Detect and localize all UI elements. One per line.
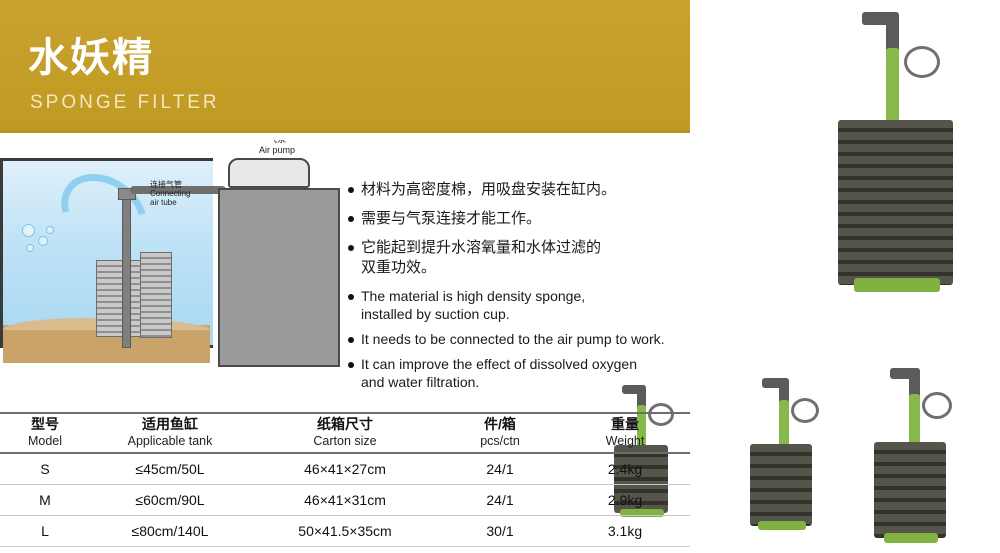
list-item: It needs to be connected to the air pump… (348, 330, 688, 348)
col-header-pcs-cn: 件/箱 (484, 416, 516, 432)
list-item: 需要与气泵连接才能工作。 (348, 209, 688, 229)
elbow-down-icon (886, 12, 899, 52)
bubble-icon (38, 236, 48, 246)
riser-tube (122, 196, 131, 348)
bullet-dot-icon (348, 216, 354, 222)
cell-tank: ≤80cm/140L (90, 516, 250, 547)
cell-carton: 46×41×27cm (250, 453, 440, 485)
col-header-model-en: Model (0, 433, 90, 450)
cell-tank: ≤45cm/50L (90, 453, 250, 485)
riser-stem (779, 400, 789, 450)
product-base (884, 533, 938, 543)
spec-table: 型号 Model 适用鱼缸 Applicable tank 纸箱尺寸 Carto… (0, 412, 690, 547)
sponge-body (874, 442, 946, 538)
sponge-cross-section-2 (140, 252, 172, 338)
table-top-rule (0, 412, 690, 414)
suction-cup-icon (791, 398, 819, 423)
bullet-dot-icon (348, 245, 354, 251)
feature-text: The material is high density sponge, ins… (361, 287, 585, 323)
cell-pcs: 24/1 (440, 485, 560, 516)
col-header-weight: 重量 Weight (560, 412, 690, 453)
table-row: L ≤80cm/140L 50×41.5×35cm 30/1 3.1kg (0, 516, 690, 547)
cell-pcs: 30/1 (440, 516, 560, 547)
bubble-icon (26, 244, 34, 252)
product-base (758, 521, 806, 530)
product-unit-l (868, 368, 968, 533)
riser-stem (909, 394, 920, 449)
cell-model: S (0, 453, 90, 485)
table-row: S ≤45cm/50L 46×41×27cm 24/1 2.4kg (0, 453, 690, 485)
col-header-carton-en: Carton size (250, 433, 440, 450)
air-pump-label-en: Air pump (259, 145, 295, 155)
table-row: M ≤60cm/90L 46×41×31cm 24/1 2.9kg (0, 485, 690, 516)
header-divider (0, 130, 690, 133)
cell-weight: 3.1kg (560, 516, 690, 547)
feature-text: It needs to be connected to the air pump… (361, 330, 665, 348)
col-header-pcs-en: pcs/ctn (440, 433, 560, 450)
cell-tank: ≤60cm/90L (90, 485, 250, 516)
riser-stem (886, 48, 899, 128)
cell-carton: 46×41×31cm (250, 485, 440, 516)
sponge-body (750, 444, 812, 526)
col-header-weight-cn: 重量 (611, 416, 639, 432)
bullet-dot-icon (348, 294, 354, 300)
feature-text: 需要与气泵连接才能工作。 (361, 209, 541, 229)
sponge-body (838, 120, 953, 285)
cell-weight: 2.9kg (560, 485, 690, 516)
page-title: 水妖精 (28, 36, 154, 80)
cell-weight: 2.4kg (560, 453, 690, 485)
list-item: 材料为高密度棉，用吸盘安装在缸内。 (348, 180, 688, 200)
product-base (854, 278, 940, 292)
col-header-tank: 适用鱼缸 Applicable tank (90, 412, 250, 453)
air-pump-body (218, 188, 340, 367)
air-tube-label-en2: air tube (150, 198, 177, 207)
col-header-model: 型号 Model (0, 412, 90, 453)
bullet-dot-icon (348, 187, 354, 193)
product-unit-m (742, 378, 832, 533)
air-pump-label-cn: 气泵 (268, 140, 286, 144)
col-header-weight-en: Weight (560, 433, 690, 450)
cell-carton: 50×41.5×35cm (250, 516, 440, 547)
feature-text: 材料为高密度棉，用吸盘安装在缸内。 (361, 180, 616, 200)
col-header-tank-cn: 适用鱼缸 (142, 416, 198, 432)
suction-cup-icon (922, 392, 952, 419)
col-header-pcs: 件/箱 pcs/ctn (440, 412, 560, 453)
bubble-icon (22, 224, 35, 237)
cell-model: M (0, 485, 90, 516)
col-header-model-cn: 型号 (31, 416, 59, 432)
bullet-dot-icon (348, 337, 354, 343)
aquarium-illustration: 气泵 Air pump 连接气管 Connecting air tube (0, 140, 340, 383)
page-subtitle: SPONGE FILTER (30, 92, 220, 114)
hero-product (820, 10, 990, 300)
tank-rim (0, 158, 213, 161)
list-item: 它能起到提升水溶氧量和水体过滤的 双重功效。 (348, 238, 688, 278)
spec-table-wrapper: 型号 Model 适用鱼缸 Applicable tank 纸箱尺寸 Carto… (0, 412, 690, 547)
suction-cup-icon (904, 46, 940, 78)
air-pump-top (228, 158, 310, 188)
cell-pcs: 24/1 (440, 453, 560, 485)
feature-text: 它能起到提升水溶氧量和水体过滤的 双重功效。 (361, 238, 601, 278)
feature-list: 材料为高密度棉，用吸盘安装在缸内。 需要与气泵连接才能工作。 它能起到提升水溶氧… (348, 180, 688, 398)
feature-text: It can improve the effect of dissolved o… (361, 355, 637, 391)
bullet-dot-icon (348, 362, 354, 368)
air-pump-label: 气泵 Air pump (232, 140, 322, 156)
col-header-carton: 纸箱尺寸 Carton size (250, 412, 440, 453)
table-header-row: 型号 Model 适用鱼缸 Applicable tank 纸箱尺寸 Carto… (0, 412, 690, 453)
air-tube-label: 连接气管 Connecting air tube (150, 180, 190, 207)
air-tube-label-en1: Connecting (150, 189, 190, 198)
product-photos: Atman安曼 水妖精 SPONGE FILTER ASH-366 S M (690, 0, 1000, 553)
list-item: The material is high density sponge, ins… (348, 287, 688, 323)
col-header-tank-en: Applicable tank (90, 433, 250, 450)
col-header-carton-cn: 纸箱尺寸 (317, 416, 373, 432)
cell-model: L (0, 516, 90, 547)
bubble-icon (46, 226, 54, 234)
air-tube-label-cn: 连接气管 (150, 180, 182, 189)
header-band: 水妖精 SPONGE FILTER (0, 0, 690, 130)
